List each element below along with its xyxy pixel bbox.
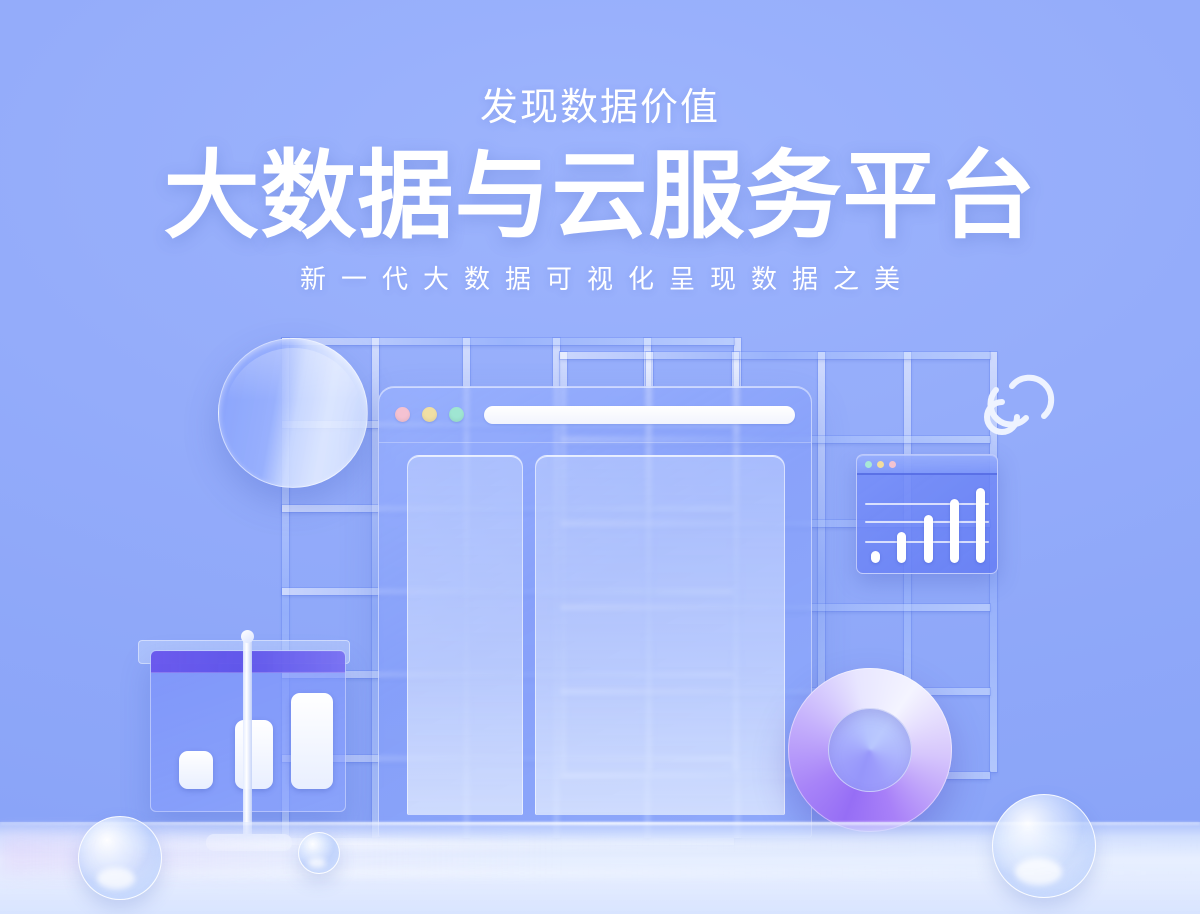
close-dot[interactable] (865, 461, 872, 468)
hero-subtitle: 新一代大数据可视化呈现数据之美 (0, 259, 1200, 296)
page-title: 大数据与云服务平台 (0, 145, 1200, 249)
chart-bar (950, 499, 959, 563)
chart-gridline (865, 503, 989, 505)
glass-disc (218, 338, 368, 488)
browser-window[interactable] (378, 386, 812, 838)
lattice-bar-horizontal (560, 352, 990, 359)
sidebar-pane[interactable] (407, 455, 523, 815)
hero-eyebrow: 发现数据价值 (0, 86, 1200, 131)
minimize-dot[interactable] (422, 407, 437, 422)
hero-text: 发现数据价值 大数据与云服务平台 新一代大数据可视化呈现数据之美 (0, 86, 1200, 296)
glass-sphere-right (992, 794, 1096, 898)
mini-dashboard-chart (857, 475, 997, 574)
hero-banner: 发现数据价值 大数据与云服务平台 新一代大数据可视化呈现数据之美 (0, 0, 1200, 914)
minimize-dot[interactable] (877, 461, 884, 468)
chart-bar (179, 751, 213, 789)
chart-bar (871, 551, 880, 563)
chart-bar (976, 488, 985, 563)
chart-bar (291, 693, 333, 789)
address-bar[interactable] (484, 406, 795, 424)
lamp-knob (241, 630, 254, 643)
chart-bar (924, 515, 933, 563)
cloud-icon (978, 364, 1064, 438)
lamp-pole (243, 634, 252, 846)
browser-titlebar (379, 387, 811, 443)
mini-dashboard-window[interactable] (856, 454, 998, 574)
mini-dashboard-titlebar (857, 455, 997, 475)
chart-bar (897, 532, 906, 563)
lattice-bar-horizontal (282, 338, 734, 345)
content-pane[interactable] (535, 455, 785, 815)
close-dot[interactable] (395, 407, 410, 422)
glass-sphere-large (78, 816, 162, 900)
maximize-dot[interactable] (889, 461, 896, 468)
chart-bar (235, 720, 273, 789)
donut-ring (788, 668, 952, 832)
maximize-dot[interactable] (449, 407, 464, 422)
glass-sphere-small (298, 832, 340, 874)
